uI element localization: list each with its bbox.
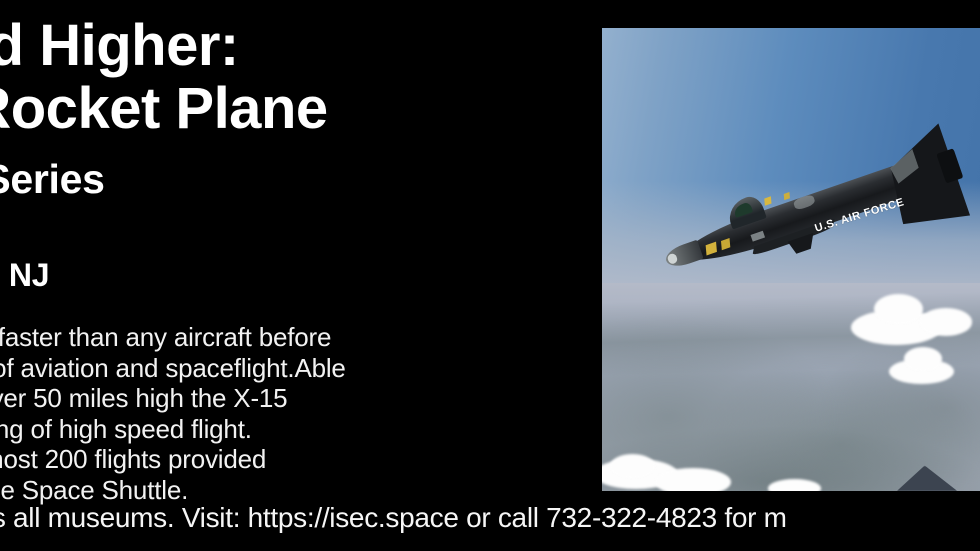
aircraft-marking-stripe bbox=[783, 192, 789, 200]
event-poster: and Higher: 5 Rocket Plane ture Series 6… bbox=[0, 0, 980, 551]
headline-line-2: 5 Rocket Plane bbox=[0, 77, 612, 140]
aircraft-marking-stripe bbox=[764, 197, 771, 207]
poster-event-details: 6 at 2PM Rd, Wall, NJ bbox=[0, 218, 608, 294]
body-line-4: erstanding of high speed flight. bbox=[0, 414, 624, 445]
poster-footer-contact: udes all museums. Visit: https://isec.sp… bbox=[0, 500, 980, 536]
body-line-2: merger of aviation and spaceflight.Able bbox=[0, 353, 624, 384]
poster-body-text: ner and faster than any aircraft before … bbox=[0, 322, 624, 505]
cloud-icon bbox=[610, 454, 655, 478]
cloud-icon bbox=[904, 347, 942, 370]
event-location: Rd, Wall, NJ bbox=[0, 256, 608, 294]
cloud-icon bbox=[920, 308, 973, 336]
headline-line-1: and Higher: bbox=[0, 14, 612, 77]
poster-text-column: and Higher: 5 Rocket Plane ture Series 6… bbox=[0, 0, 600, 551]
cloud-icon bbox=[768, 479, 821, 491]
poster-headline: and Higher: 5 Rocket Plane bbox=[0, 14, 612, 140]
x15-rocket-plane-photo: U.S. AIR FORCE bbox=[602, 28, 980, 491]
body-line-1: ner and faster than any aircraft before bbox=[0, 322, 624, 353]
body-line-5: from almost 200 flights provided bbox=[0, 444, 624, 475]
cloud-icon bbox=[655, 468, 731, 491]
event-datetime: 6 at 2PM bbox=[0, 218, 608, 256]
poster-subtitle: ture Series bbox=[0, 156, 105, 202]
body-line-3: n 6 or over 50 miles high the X-15 bbox=[0, 383, 624, 414]
